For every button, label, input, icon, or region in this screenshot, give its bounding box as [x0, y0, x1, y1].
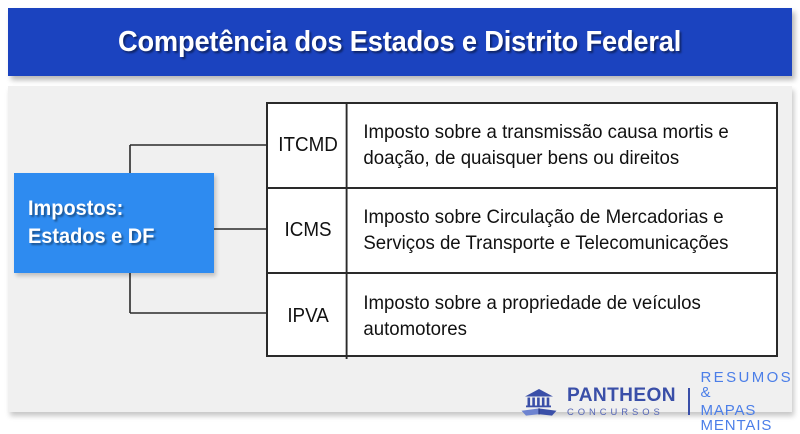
logo-brand-main: PANTHEON — [567, 386, 676, 406]
table-row[interactable]: IPVA Imposto sobre a propriedade de veíc… — [268, 274, 776, 359]
page-title: Competência dos Estados e Distrito Feder… — [118, 26, 681, 59]
tax-description: Imposto sobre a transmissão causa mortis… — [350, 104, 757, 187]
logo-brand-sub: CONCURSOS — [567, 408, 677, 418]
pantheon-temple-book-icon — [518, 387, 560, 417]
root-node-line-1: Impostos: — [28, 195, 205, 223]
logo-tagline-line-1: RESUMOS & — [700, 370, 800, 400]
logo-tagline-line-2: MAPAS MENTAIS — [700, 403, 800, 433]
table-row[interactable]: ITCMD Imposto sobre a transmissão causa … — [268, 104, 776, 189]
table-row[interactable]: ICMS Imposto sobre Circulação de Mercado… — [268, 189, 776, 274]
slide-page: Competência dos Estados e Distrito Feder… — [0, 0, 800, 424]
tax-abbreviation: ICMS — [270, 189, 347, 272]
tax-abbreviation: ITCMD — [270, 104, 347, 187]
tax-description: Imposto sobre a propriedade de veículos … — [350, 274, 757, 359]
logo-brand: PANTHEON CONCURSOS — [567, 386, 678, 418]
tax-description: Imposto sobre Circulação de Mercadorias … — [350, 189, 757, 272]
header-banner: Competência dos Estados e Distrito Feder… — [8, 8, 792, 76]
taxes-table: ITCMD Imposto sobre a transmissão causa … — [266, 102, 778, 357]
logo-divider — [688, 388, 690, 415]
root-node-line-2: Estados e DF — [28, 223, 205, 251]
tax-abbreviation: IPVA — [270, 274, 347, 359]
root-node-impostos-estados-df[interactable]: Impostos: Estados e DF — [14, 173, 214, 273]
